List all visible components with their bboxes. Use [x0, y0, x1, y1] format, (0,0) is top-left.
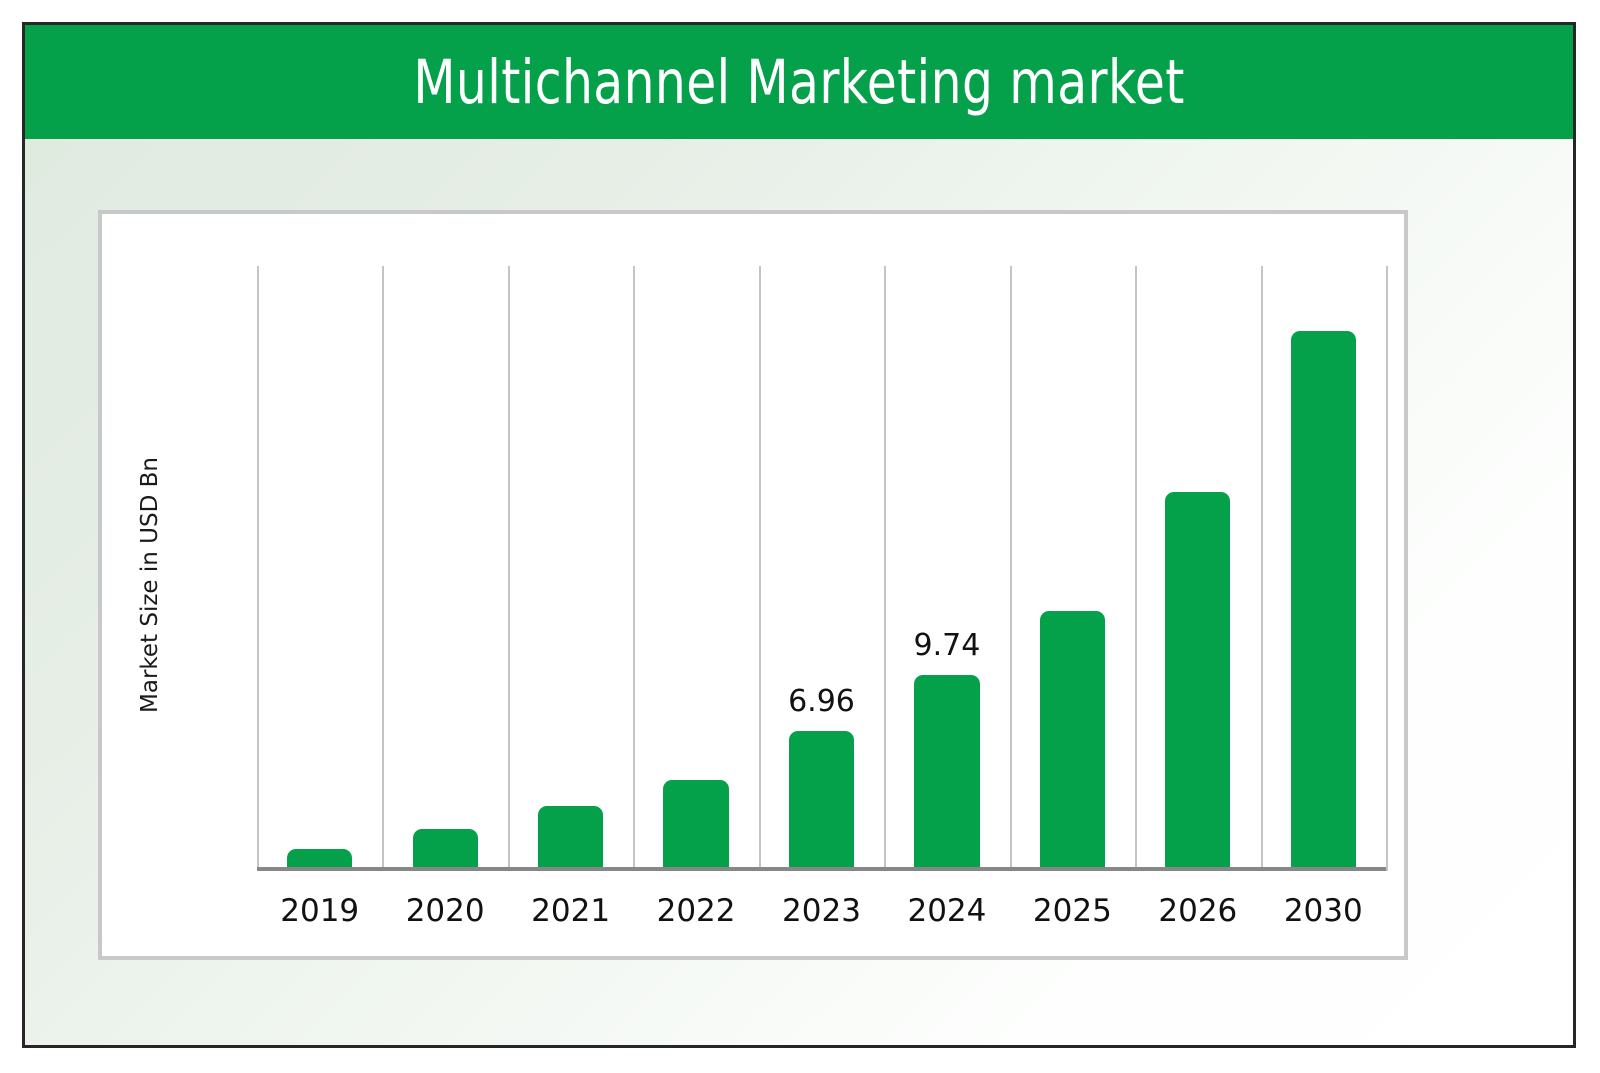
bar[interactable] — [789, 731, 854, 871]
gridline — [257, 266, 259, 871]
bar-value-label: 6.96 — [788, 684, 855, 719]
bar-column[interactable] — [1291, 331, 1356, 871]
bar-value-label: 9.74 — [914, 628, 981, 663]
x-axis-category-label: 2026 — [1158, 893, 1237, 929]
bar-column[interactable] — [1165, 492, 1230, 871]
x-axis-category-label: 2024 — [907, 893, 986, 929]
x-axis-category-label: 2021 — [531, 893, 610, 929]
gridline — [1261, 266, 1263, 871]
bar[interactable] — [663, 780, 728, 871]
y-axis-title: Market Size in USD Bn — [100, 214, 200, 956]
gridline — [633, 266, 635, 871]
bar[interactable] — [1040, 611, 1105, 871]
gridline — [1386, 266, 1388, 871]
chart-panel: Market Size in USD Bn 6.969.74 201920202… — [98, 210, 1408, 960]
plot-wrapper: Market Size in USD Bn 6.969.74 — [102, 214, 1404, 956]
gridline — [382, 266, 384, 871]
bar-column[interactable]: 9.74 — [914, 628, 979, 871]
bar-column[interactable] — [1040, 611, 1105, 871]
page-title: Multichannel Marketing market — [413, 47, 1184, 118]
gridline — [1010, 266, 1012, 871]
bar[interactable] — [538, 806, 603, 871]
x-axis-category-label: 2030 — [1284, 893, 1363, 929]
bar-column[interactable] — [413, 829, 478, 871]
gridline — [884, 266, 886, 871]
x-axis-category-label: 2022 — [657, 893, 736, 929]
gridline — [759, 266, 761, 871]
x-axis-line — [257, 867, 1386, 871]
bar[interactable] — [914, 675, 979, 871]
gridline — [508, 266, 510, 871]
plot-area: 6.969.74 — [257, 266, 1386, 871]
infographic-card: Multichannel Marketing market Market Siz… — [22, 22, 1576, 1048]
title-bar: Multichannel Marketing market — [25, 25, 1573, 139]
x-axis-category-label: 2019 — [280, 893, 359, 929]
gridline — [1135, 266, 1137, 871]
bar[interactable] — [1165, 492, 1230, 871]
x-axis-category-label: 2025 — [1033, 893, 1112, 929]
bar[interactable] — [413, 829, 478, 871]
x-axis-category-label: 2020 — [406, 893, 485, 929]
bar[interactable] — [1291, 331, 1356, 871]
bar-column[interactable] — [663, 780, 728, 871]
y-axis-title-label: Market Size in USD Bn — [137, 457, 163, 713]
bar-column[interactable] — [538, 806, 603, 871]
x-axis-category-label: 2023 — [782, 893, 861, 929]
bar-column[interactable]: 6.96 — [789, 684, 854, 871]
